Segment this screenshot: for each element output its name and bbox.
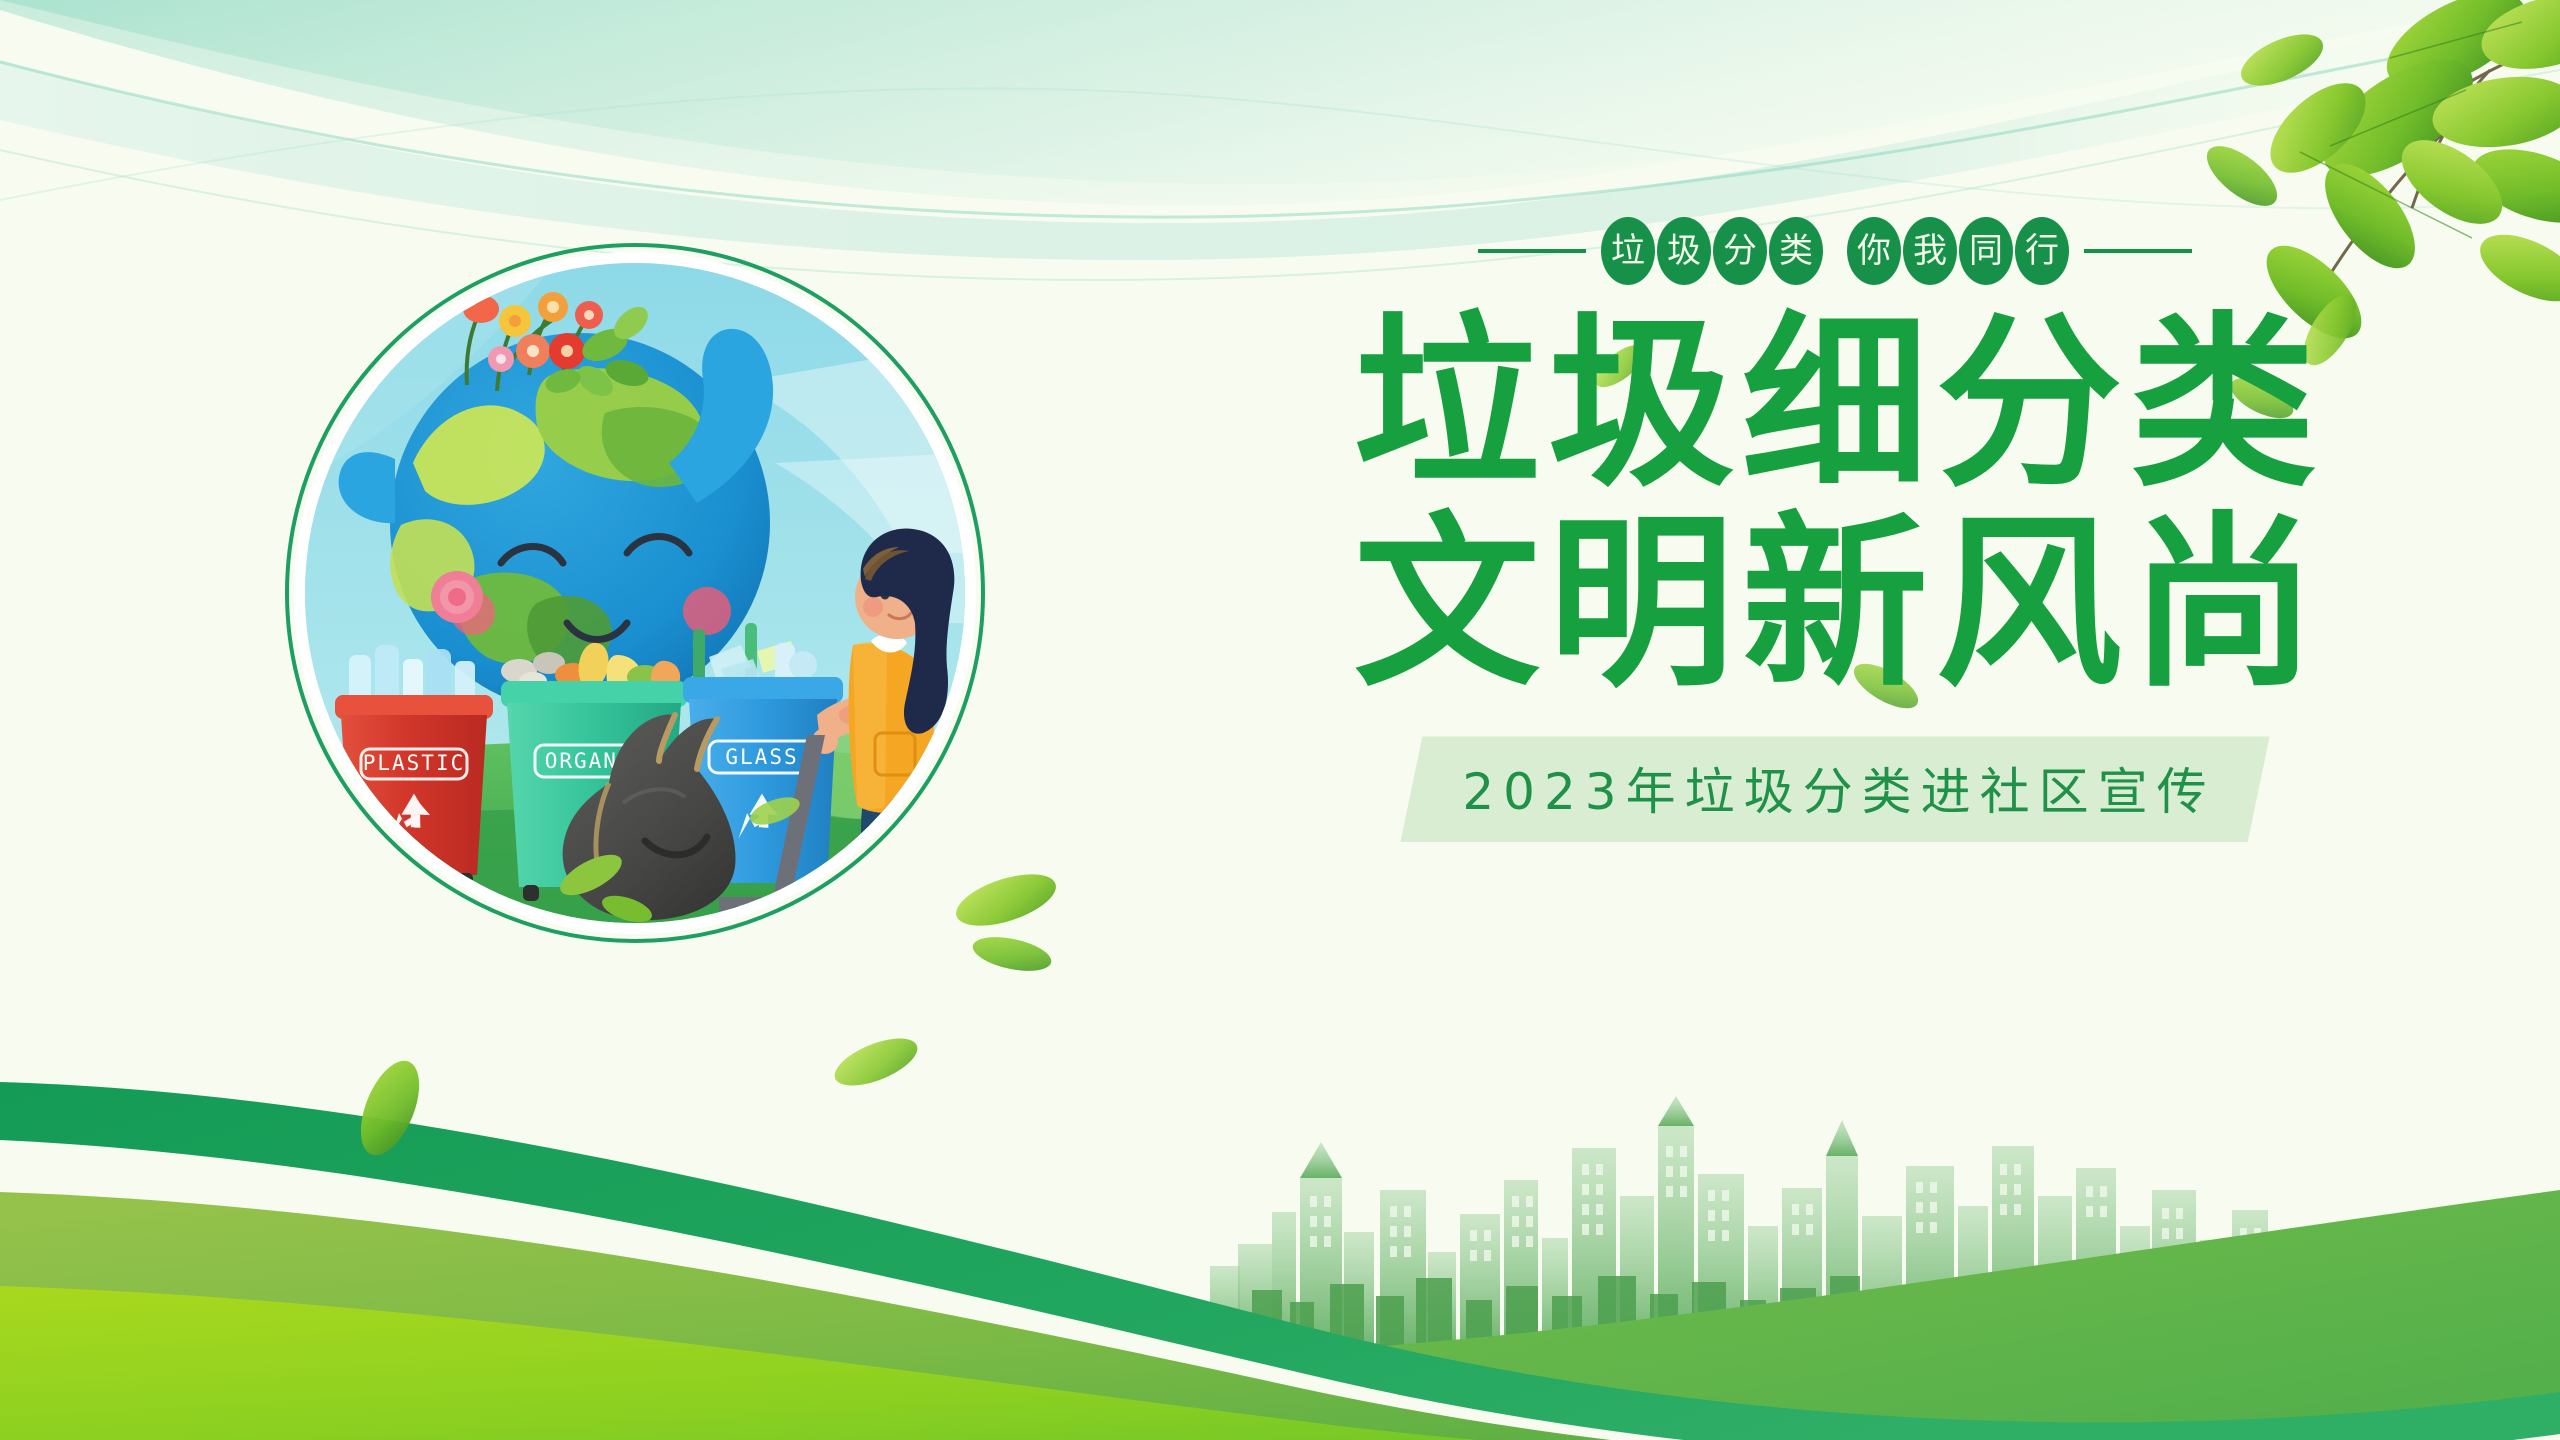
tagline-char-2: 圾: [1657, 217, 1711, 285]
tagline-char-8: 行: [2015, 217, 2069, 285]
poster-canvas: PLASTIC: [0, 0, 2560, 1440]
headline-block: 垃 圾 分 类 你 我 同 行 垃圾细分类 文明新风尚 2023年垃圾分类进社区…: [1220, 215, 2450, 1005]
tagline-badges: 垃 圾 分 类 你 我 同 行: [1600, 217, 2070, 285]
tagline-rule-right: [2084, 249, 2192, 253]
main-title-line-1: 垃圾细分类: [1346, 309, 2324, 499]
bin-label-glass: GLASS: [725, 745, 798, 769]
tagline-char-3: 分: [1713, 217, 1767, 285]
tagline-char-1: 垃: [1601, 217, 1655, 285]
subtitle-band: 2023年垃圾分类进社区宣传: [1400, 736, 2269, 842]
medallion-artwork: PLASTIC: [305, 263, 965, 923]
main-title: 垃圾细分类 文明新风尚: [1346, 309, 2324, 698]
main-title-line-2: 文明新风尚: [1346, 509, 2324, 699]
subtitle-band-wrap: 2023年垃圾分类进社区宣传: [1400, 736, 2269, 842]
tagline-char-4: 类: [1769, 217, 1823, 285]
tagline-char-5: 你: [1847, 217, 1901, 285]
tagline: 垃 圾 分 类 你 我 同 行: [1478, 215, 2192, 287]
illustration-medallion: PLASTIC: [285, 243, 985, 943]
tagline-spacer: [1824, 251, 1846, 252]
tagline-rule-left: [1478, 249, 1586, 253]
tagline-char-7: 同: [1959, 217, 2013, 285]
bin-label-plastic: PLASTIC: [363, 751, 466, 775]
tagline-char-6: 我: [1903, 217, 1957, 285]
